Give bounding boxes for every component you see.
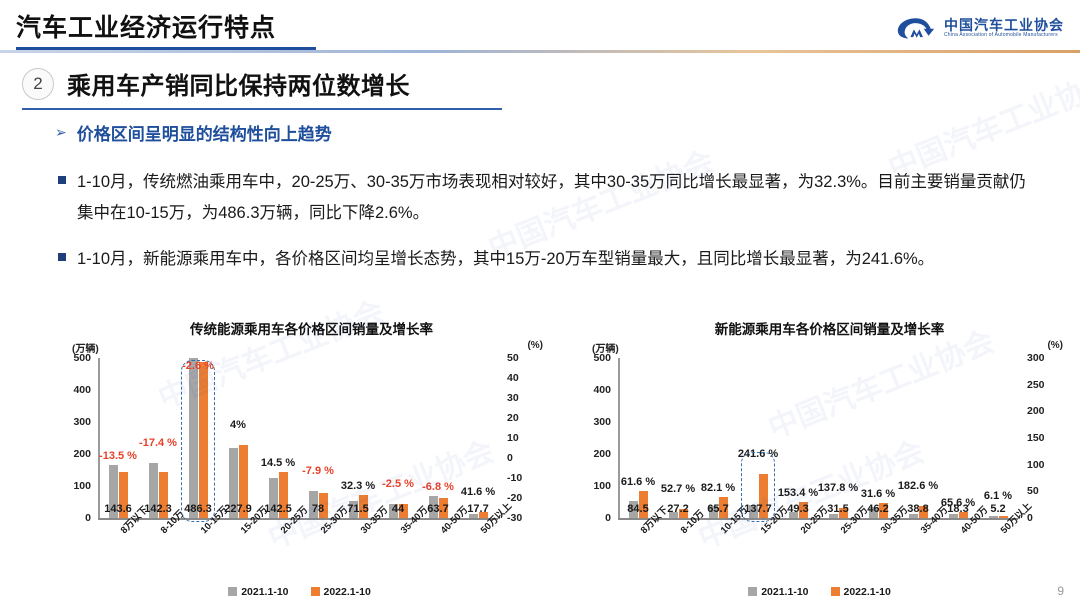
bar-value-label: 71.5 [347,503,368,515]
y2-axis-tick-label: 10 [507,432,519,444]
chart-plot-area: 500400300200100050403020100-10-20-30143.… [98,358,498,518]
legend-swatch-2022 [831,587,840,596]
legend-item: 2021.1-10 [748,586,808,598]
bullet-paragraph-2: 1-10月，新能源乘用车中，各价格区间均呈增长态势，其中15万-20万车型销量最… [58,244,1037,275]
y2-axis-tick-label: -10 [507,472,522,484]
section-heading: 2 乘用车产销同比保持两位数增长 [22,66,410,101]
y2-axis-tick-label: 200 [1027,405,1045,417]
chart-category-group: 49.3153.4 %20-25万 [778,358,818,518]
growth-rate-label: 14.5 % [261,457,295,469]
highlight-box [181,360,215,522]
growth-rate-label: 182.6 % [898,480,938,492]
growth-rate-label: 4% [230,419,246,431]
caam-logo: 中国汽车工业协会 China Association of Automobile… [895,8,1064,48]
chart-traditional-energy: 传统能源乘用车各价格区间销量及增长率 (万辆) (%) 500400300200… [52,318,547,598]
y-axis-tick-label: 0 [605,512,611,524]
highlight-box [741,452,775,522]
bar-value-label: 31.5 [827,503,848,515]
section-title: 乘用车产销同比保持两位数增长 [67,66,410,101]
legend-label: 2022.1-10 [324,586,371,598]
section-number-badge: 2 [22,68,54,100]
chart-legend: 2021.1-102022.1-10 [572,586,1067,598]
y-axis-tick-label: 100 [73,480,91,492]
legend-label: 2022.1-10 [844,586,891,598]
chart-category-group: 78-7.9 %25-30万 [298,358,338,518]
y-axis-tick-label: 200 [73,448,91,460]
bar-value-label: 142.3 [144,503,172,515]
y2-axis-tick-label: 300 [1027,352,1045,364]
y2-axis-tick-label: -30 [507,512,522,524]
chart-plot-area: 500400300200100030025020015010050084.561… [618,358,1018,518]
y2-axis-tick-label: 50 [507,352,519,364]
y2-axis-tick-label: 150 [1027,432,1045,444]
header-divider [0,50,1080,53]
y2-axis-tick-label: 50 [1027,485,1039,497]
chart-category-group: 63.7-6.8 %40-50万 [418,358,458,518]
chart-title: 新能源乘用车各价格区间销量及增长率 [572,318,1067,338]
chart-category-group: 143.6-13.5 %8万以下 [98,358,138,518]
growth-rate-label: -6.8 % [422,481,454,493]
y-axis-tick-label: 0 [85,512,91,524]
growth-rate-label: -2.5 % [382,478,414,490]
chart-category-group: 27.252.7 %8-10万 [658,358,698,518]
chart-title: 传统能源乘用车各价格区间销量及增长率 [52,318,547,338]
bar-2021 [989,516,998,518]
bar-value-label: 142.5 [264,503,292,515]
chart-category-group: 84.561.6 %8万以下 [618,358,658,518]
square-bullet-icon [58,253,66,261]
bar-value-label: 5.2 [990,503,1005,515]
y2-axis-tick-label: 40 [507,372,519,384]
chart-category-group: 5.26.1 %50万以上 [978,358,1018,518]
y-axis-tick-label: 100 [593,480,611,492]
y2-axis-tick-label: 250 [1027,379,1045,391]
y2-axis-tick-label: 20 [507,412,519,424]
growth-rate-label: 153.4 % [778,487,818,499]
chart-category-group: 46.231.6 %30-35万 [858,358,898,518]
bullet-paragraph-1: 1-10月，传统燃油乘用车中，20-25万、30-35万市场表现相对较好，其中3… [58,167,1037,228]
y2-axis-tick-label: 100 [1027,459,1045,471]
bar-value-label: 44 [392,503,404,515]
y-axis-tick-label: 300 [593,416,611,428]
chart-new-energy: 新能源乘用车各价格区间销量及增长率 (万辆) (%) 5004003002001… [572,318,1067,598]
growth-rate-label: 41.6 % [461,486,495,498]
bar-value-label: 65.7 [707,503,728,515]
chart-category-group: 31.5137.8 %25-30万 [818,358,858,518]
growth-rate-label: 61.6 % [621,476,655,488]
caam-logo-text: 中国汽车工业协会 China Association of Automobile… [944,18,1064,38]
chart-category-group: 44-2.5 %35-40万 [378,358,418,518]
growth-rate-label: 52.7 % [661,483,695,495]
subsection-title: 价格区间呈明显的结构性向上趋势 [77,120,332,145]
growth-rate-label: -17.4 % [139,437,177,449]
bar-value-label: 143.6 [104,503,132,515]
caam-logo-mark [895,15,937,41]
y2-axis-tick-label: 30 [507,392,519,404]
chart-y2-axis-unit: (%) [527,340,543,351]
growth-rate-label: 137.8 % [818,482,858,494]
legend-item: 2021.1-10 [228,586,288,598]
chart-category-group: 71.532.3 %30-35万 [338,358,378,518]
growth-rate-label: 31.6 % [861,488,895,500]
bullet-text-1: 1-10月，传统燃油乘用车中，20-25万、30-35万市场表现相对较好，其中3… [77,167,1037,228]
logo-name-en: China Association of Automobile Manufact… [944,32,1064,38]
legend-swatch-2021 [748,587,757,596]
bar-value-label: 63.7 [427,503,448,515]
bar-value-label: 78 [312,503,324,515]
bar-value-label: 84.5 [627,503,648,515]
section-underline [22,108,502,110]
growth-rate-label: 65.6 % [941,497,975,509]
y-axis-tick-label: 400 [593,384,611,396]
chart-y2-axis-unit: (%) [1047,340,1063,351]
legend-swatch-2022 [311,587,320,596]
growth-rate-label: -7.9 % [302,465,334,477]
chart-category-group: 142.3-17.4 %8-10万 [138,358,178,518]
y-axis-tick-label: 400 [73,384,91,396]
chart-category-group: 17.741.6 %50万以上 [458,358,498,518]
bar-value-label: 38.8 [907,503,928,515]
bar-value-label: 27.2 [667,503,688,515]
bar-value-label: 227.9 [224,503,252,515]
legend-swatch-2021 [228,587,237,596]
bullet-text-2: 1-10月，新能源乘用车中，各价格区间均呈增长态势，其中15万-20万车型销量最… [77,244,1037,275]
chart-category-group: 38.8182.6 %35-40万 [898,358,938,518]
arrow-bullet-icon: ➢ [55,124,67,141]
growth-rate-label: 6.1 % [984,490,1012,502]
growth-rate-label: -13.5 % [99,450,137,462]
page-header: 汽车工业经济运行特点 中国汽车工业协会 China Association of… [0,0,1080,54]
legend-label: 2021.1-10 [761,586,808,598]
y2-axis-tick-label: -20 [507,492,522,504]
y-axis-tick-label: 300 [73,416,91,428]
bar-value-label: 17.7 [467,503,488,515]
y-axis-tick-label: 500 [593,352,611,364]
logo-name-cn: 中国汽车工业协会 [944,18,1064,33]
growth-rate-label: 82.1 % [701,482,735,494]
legend-label: 2021.1-10 [241,586,288,598]
chart-category-group: 65.782.1 %10-15万 [698,358,738,518]
bar-value-label: 46.2 [867,503,888,515]
growth-rate-label: 32.3 % [341,480,375,492]
y-axis-tick-label: 200 [593,448,611,460]
square-bullet-icon [58,176,66,184]
page-number: 9 [1057,584,1064,598]
chart-category-group: 18.365.6 %40-50万 [938,358,978,518]
y-axis-tick-label: 500 [73,352,91,364]
y2-axis-tick-label: 0 [507,452,513,464]
legend-item: 2022.1-10 [831,586,891,598]
subsection-heading: ➢ 价格区间呈明显的结构性向上趋势 [55,120,332,145]
bar-value-label: 49.3 [787,503,808,515]
chart-category-group: 142.514.5 %20-25万 [258,358,298,518]
chart-legend: 2021.1-102022.1-10 [52,586,547,598]
chart-category-group: 227.94%15-20万 [218,358,258,518]
page-title: 汽车工业经济运行特点 [16,8,276,44]
legend-item: 2022.1-10 [311,586,371,598]
